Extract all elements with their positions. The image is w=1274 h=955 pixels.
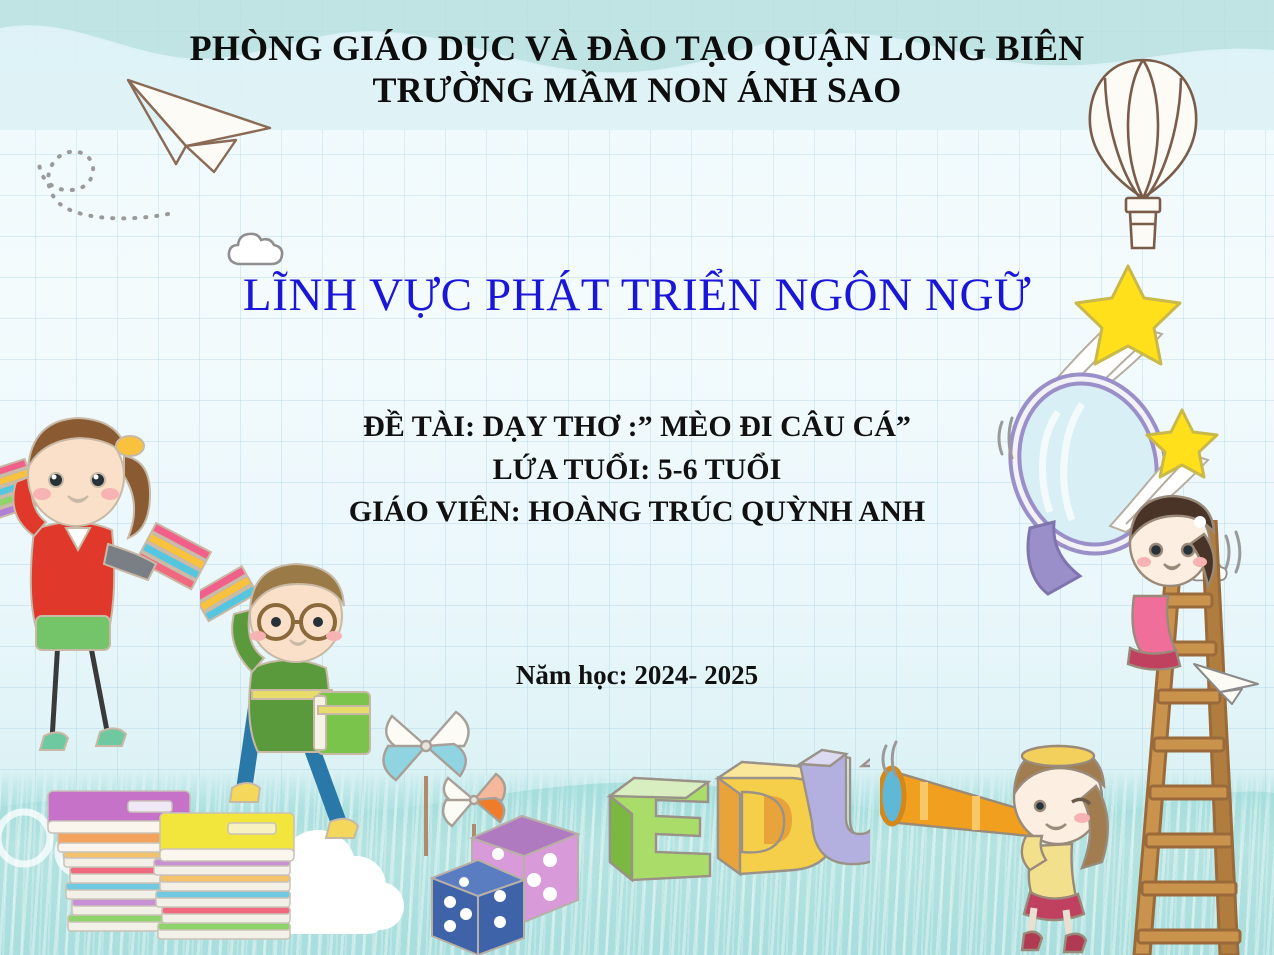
age-line: LỨA TUỔI: 5-6 TUỔI	[0, 449, 1274, 492]
water-wave-background	[0, 745, 1274, 955]
school-year-label: Năm học: 2024- 2025	[0, 660, 1274, 691]
header-block: PHÒNG GIÁO DỤC VÀ ĐÀO TẠO QUẬN LONG BIÊN…	[0, 28, 1274, 112]
teacher-line: GIÁO VIÊN: HOÀNG TRÚC QUỲNH ANH	[0, 491, 1274, 534]
details-block: ĐỀ TÀI: DẠY THƠ :” MÈO ĐI CÂU CÁ” LỨA TU…	[0, 406, 1274, 534]
page-title: LĨNH VỰC PHÁT TRIỂN NGÔN NGỮ	[0, 268, 1274, 322]
presentation-slide: PHÒNG GIÁO DỤC VÀ ĐÀO TẠO QUẬN LONG BIÊN…	[0, 0, 1274, 955]
header-line-2: TRƯỜNG MẦM NON ÁNH SAO	[0, 70, 1274, 112]
topic-line: ĐỀ TÀI: DẠY THƠ :” MÈO ĐI CÂU CÁ”	[0, 406, 1274, 449]
header-line-1: PHÒNG GIÁO DỤC VÀ ĐÀO TẠO QUẬN LONG BIÊN	[0, 28, 1274, 70]
